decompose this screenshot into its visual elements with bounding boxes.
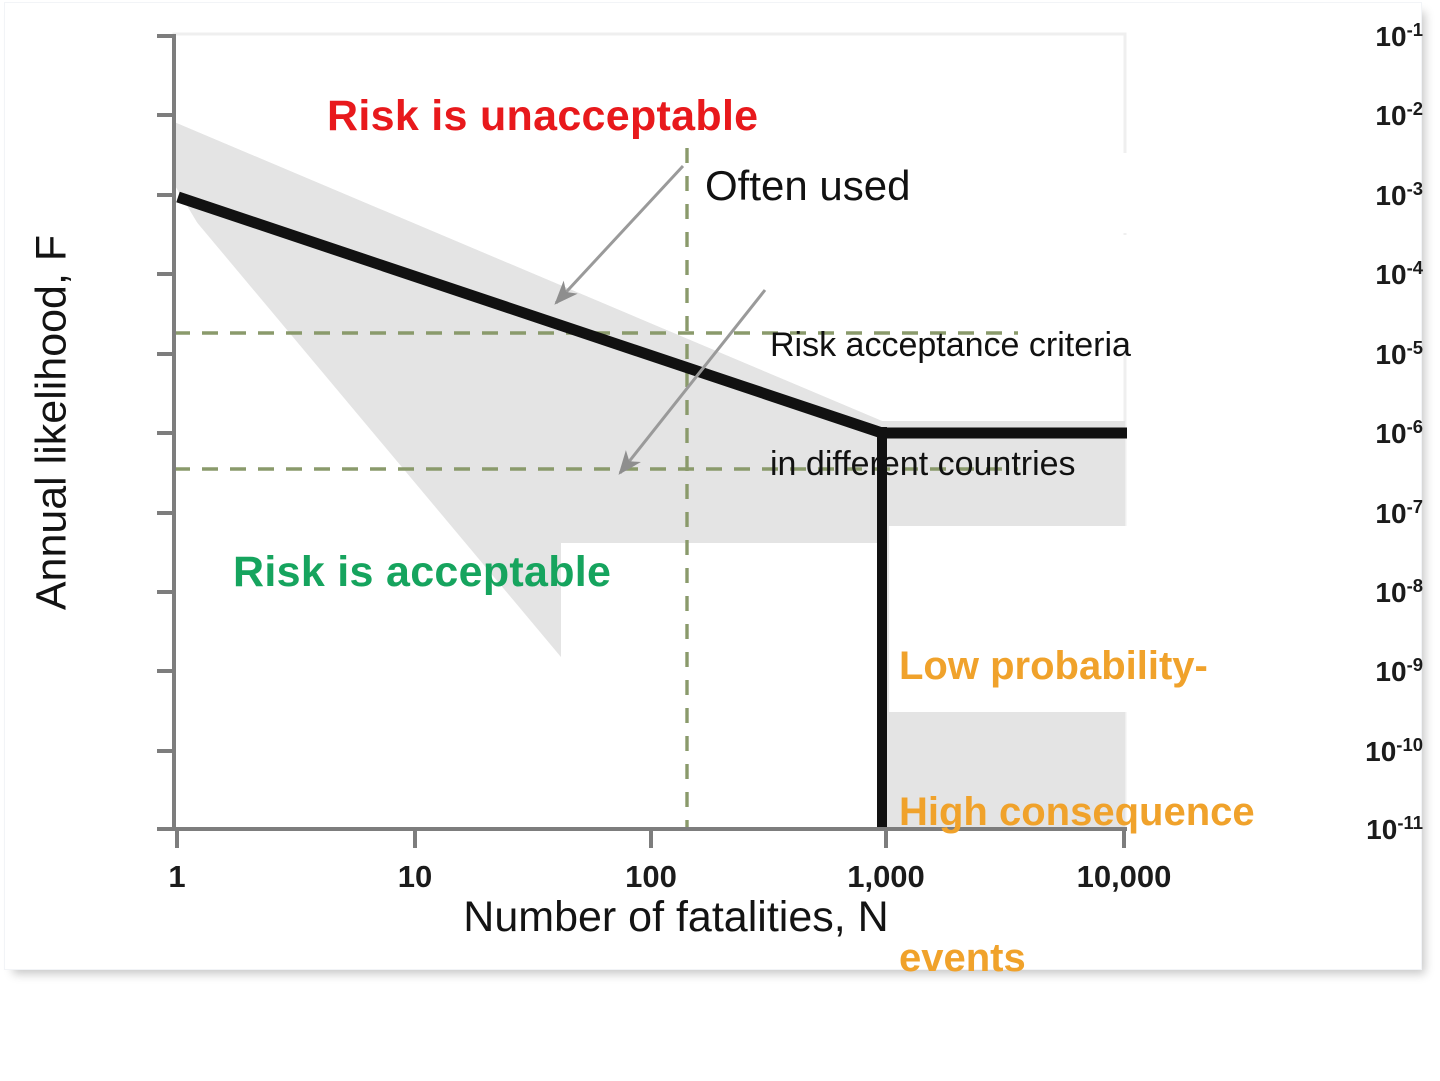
screenshot-root: 10-1 10-2 10-3 10-4 10-5 10-6 10-7 10-8 … xyxy=(0,0,1440,986)
y-tick-label: 10-1 xyxy=(1275,19,1423,53)
y-tick-marks xyxy=(157,36,174,829)
risk-acceptable-label: Risk is acceptable xyxy=(233,551,611,594)
figure-window: 10-1 10-2 10-3 10-4 10-5 10-6 10-7 10-8 … xyxy=(4,2,1422,970)
y-tick-label: 10-6 xyxy=(1275,416,1423,450)
y-tick-label: 10-3 xyxy=(1275,178,1423,212)
lphc-line2: High consequence xyxy=(899,788,1255,837)
x-tick-label: 1 xyxy=(168,859,185,895)
criteria-label: Risk acceptance criteria in different co… xyxy=(770,246,1131,564)
lphc-line3: events xyxy=(899,934,1255,983)
x-tick-label: 10 xyxy=(398,859,432,895)
y-tick-label: 10-7 xyxy=(1275,496,1423,530)
y-tick-label: 10-11 xyxy=(1275,812,1423,846)
y-tick-label: 10-8 xyxy=(1275,575,1423,609)
criteria-label-line2: in different countries xyxy=(770,445,1131,485)
risk-unacceptable-label: Risk is unacceptable xyxy=(327,95,758,138)
fn-curve-chart: 10-1 10-2 10-3 10-4 10-5 10-6 10-7 10-8 … xyxy=(5,3,1423,971)
criteria-label-line1: Risk acceptance criteria xyxy=(770,326,1131,366)
y-tick-label: 10-10 xyxy=(1275,734,1423,768)
lphc-line1: Low probability- xyxy=(899,642,1255,691)
often-used-label: Often used xyxy=(705,165,910,207)
low-probability-high-consequence-label: Low probability- High consequence events xyxy=(899,544,1255,1081)
y-axis-title: Annual likelihood, F xyxy=(31,143,74,703)
y-tick-label: 10-4 xyxy=(1275,257,1423,291)
x-tick-label: 100 xyxy=(625,859,677,895)
y-tick-label: 10-9 xyxy=(1275,654,1423,688)
y-tick-label: 10-5 xyxy=(1275,337,1423,371)
y-tick-label: 10-2 xyxy=(1275,98,1423,132)
